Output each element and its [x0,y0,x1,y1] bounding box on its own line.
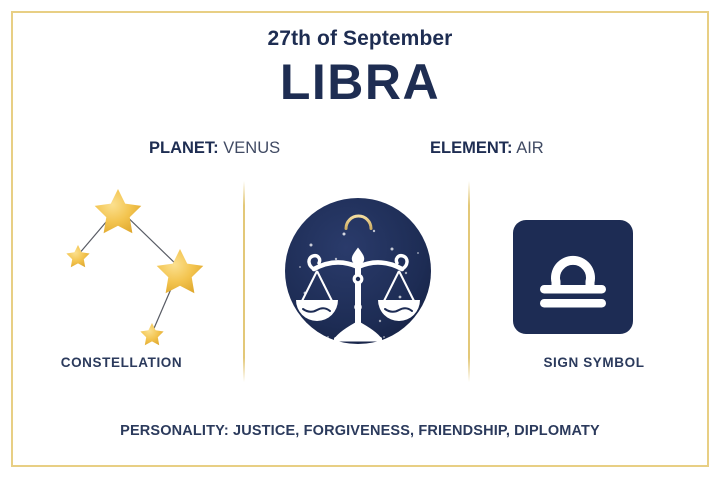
element-value: AIR [516,139,544,157]
libra-sign-symbol-icon [534,242,612,312]
sign-title: LIBRA [0,54,720,110]
divider-right [468,181,470,382]
planet-value: VENUS [223,139,280,157]
personality-line: PERSONALITY: JUSTICE, FORGIVENESS, FRIEN… [0,423,720,439]
attribute-row: PLANET: VENUS ELEMENT: AIR [0,137,720,163]
element-label: ELEMENT: [430,139,513,157]
zodiac-infographic-card: 27th of September LIBRA PLANET: VENUS EL… [0,0,720,478]
sign-symbol-box [513,220,633,334]
libra-constellation-icon [46,183,206,348]
date-line: 27th of September [0,26,720,52]
element-attribute: ELEMENT: AIR [430,137,544,159]
libra-scales-medallion [284,197,432,345]
divider-left [243,181,245,382]
constellation-label: CONSTELLATION [0,355,243,370]
sign-symbol-label: SIGN SYMBOL [468,355,720,370]
planet-label: PLANET: [149,139,219,157]
header: 27th of September LIBRA [0,26,720,110]
planet-attribute: PLANET: VENUS [149,137,280,159]
